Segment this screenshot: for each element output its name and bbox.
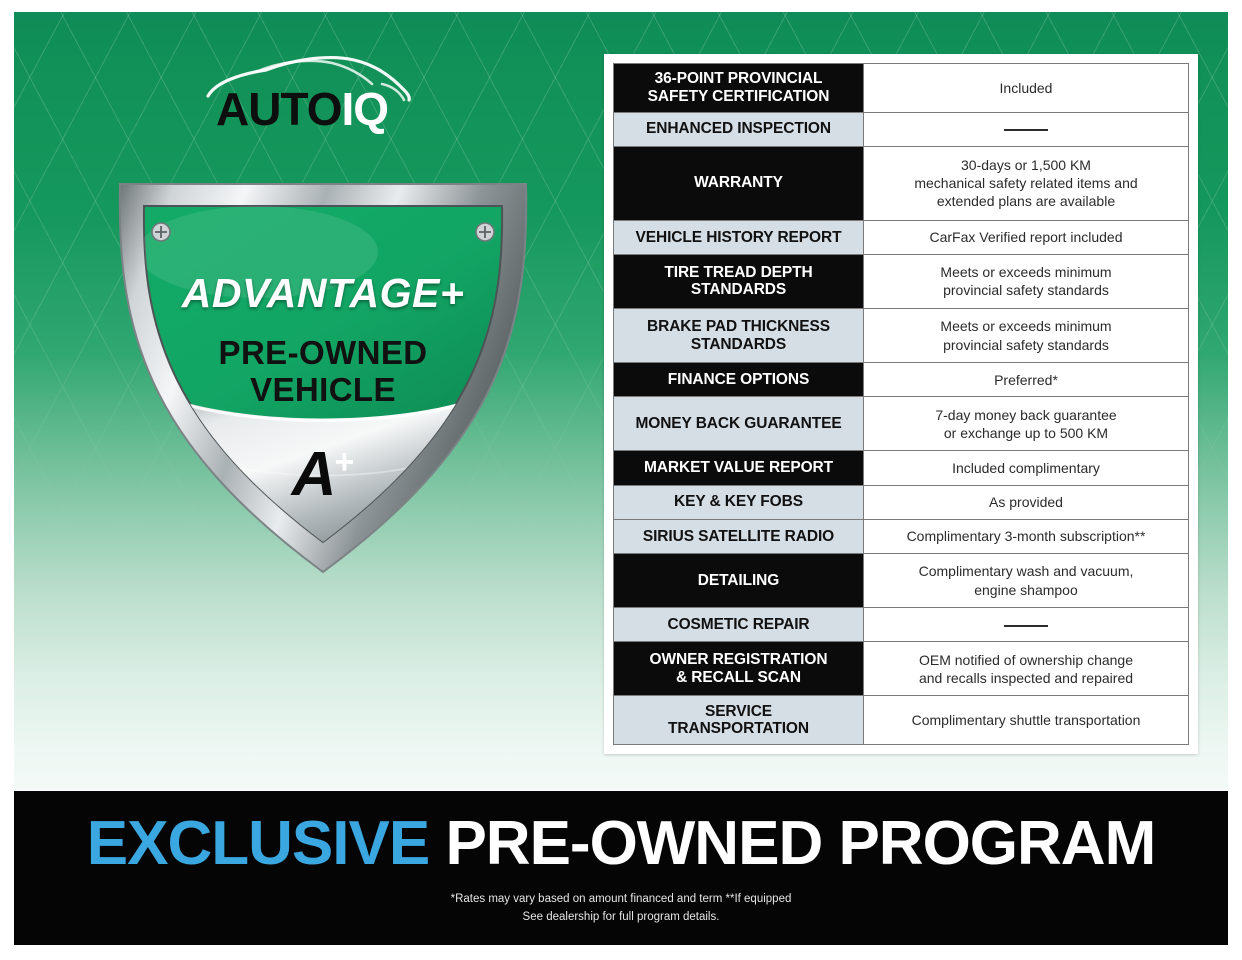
feature-value-cell: Preferred* (864, 363, 1189, 397)
disclaimer: *Rates may vary based on amount financed… (14, 891, 1228, 927)
headline-accent: EXCLUSIVE (87, 809, 429, 878)
logo-iq-text: IQ (342, 83, 389, 135)
autoiq-wordmark: AUTOIQ (216, 86, 416, 132)
feature-value-cell: Complimentary shuttle transportation (864, 696, 1189, 745)
autoiq-logo: AUTOIQ (196, 48, 418, 140)
feature-value-cell: Included complimentary (864, 451, 1189, 485)
feature-label-cell: SIRIUS SATELLITE RADIO (614, 519, 864, 553)
table-row: KEY & KEY FOBSAs provided (614, 485, 1189, 519)
feature-label-cell: SERVICETRANSPORTATION (614, 696, 864, 745)
em-dash-marker (1004, 129, 1048, 131)
table-row: ENHANCED INSPECTION (614, 112, 1189, 146)
feature-value-cell: Complimentary 3-month subscription** (864, 519, 1189, 553)
feature-label-cell: TIRE TREAD DEPTHSTANDARDS (614, 254, 864, 308)
table-row: TIRE TREAD DEPTHSTANDARDSMeets or exceed… (614, 254, 1189, 308)
table-row: 36-POINT PROVINCIALSAFETY CERTIFICATIONI… (614, 64, 1189, 113)
feature-label-cell: FINANCE OPTIONS (614, 363, 864, 397)
logo-auto-text: AUTO (216, 83, 342, 135)
feature-value-cell: OEM notified of ownership changeand reca… (864, 642, 1189, 696)
feature-value-cell: Meets or exceeds minimumprovincial safet… (864, 254, 1189, 308)
feature-value-cell: Meets or exceeds minimumprovincial safet… (864, 309, 1189, 363)
features-table-frame: 36-POINT PROVINCIALSAFETY CERTIFICATIONI… (604, 54, 1198, 754)
table-row: SIRIUS SATELLITE RADIOComplimentary 3-mo… (614, 519, 1189, 553)
feature-label-cell: BRAKE PAD THICKNESSSTANDARDS (614, 309, 864, 363)
feature-value-cell: As provided (864, 485, 1189, 519)
feature-value-cell: CarFax Verified report included (864, 220, 1189, 254)
table-row: COSMETIC REPAIR (614, 608, 1189, 642)
feature-value-cell: 30-days or 1,500 KMmechanical safety rel… (864, 146, 1189, 220)
feature-label-cell: VEHICLE HISTORY REPORT (614, 220, 864, 254)
feature-value-cell: 7-day money back guaranteeor exchange up… (864, 397, 1189, 451)
feature-label-cell: OWNER REGISTRATION& RECALL SCAN (614, 642, 864, 696)
features-table: 36-POINT PROVINCIALSAFETY CERTIFICATIONI… (613, 63, 1189, 745)
feature-value-cell (864, 608, 1189, 642)
feature-value-cell: Complimentary wash and vacuum,engine sha… (864, 553, 1189, 607)
em-dash-marker (1004, 625, 1048, 627)
feature-label-cell: 36-POINT PROVINCIALSAFETY CERTIFICATION (614, 64, 864, 113)
table-row: VEHICLE HISTORY REPORTCarFax Verified re… (614, 220, 1189, 254)
advantage-plus-shield-badge: ADVANTAGE+ PRE-OWNED VEHICLE A+ (108, 172, 538, 592)
disclaimer-line-2: See dealership for full program details. (14, 909, 1228, 927)
bottom-banner: EXCLUSIVE PRE-OWNED PROGRAM *Rates may v… (14, 791, 1228, 945)
table-row: MARKET VALUE REPORTIncluded complimentar… (614, 451, 1189, 485)
feature-value-cell: Included (864, 64, 1189, 113)
feature-label-cell: WARRANTY (614, 146, 864, 220)
feature-label-cell: MONEY BACK GUARANTEE (614, 397, 864, 451)
table-row: MONEY BACK GUARANTEE7-day money back gua… (614, 397, 1189, 451)
banner-headline: EXCLUSIVE PRE-OWNED PROGRAM (14, 813, 1228, 875)
feature-label-cell: ENHANCED INSPECTION (614, 112, 864, 146)
table-row: DETAILINGComplimentary wash and vacuum,e… (614, 553, 1189, 607)
table-row: FINANCE OPTIONSPreferred* (614, 363, 1189, 397)
table-row: SERVICETRANSPORTATIONComplimentary shutt… (614, 696, 1189, 745)
table-row: WARRANTY30-days or 1,500 KMmechanical sa… (614, 146, 1189, 220)
table-row: BRAKE PAD THICKNESSSTANDARDSMeets or exc… (614, 309, 1189, 363)
headline-rest (429, 809, 445, 878)
table-row: OWNER REGISTRATION& RECALL SCANOEM notif… (614, 642, 1189, 696)
shield-graphic-icon (108, 172, 538, 592)
feature-label-cell: MARKET VALUE REPORT (614, 451, 864, 485)
headline-rest-text: PRE-OWNED PROGRAM (445, 809, 1155, 878)
feature-label-cell: COSMETIC REPAIR (614, 608, 864, 642)
poster-root: AUTOIQ (0, 0, 1242, 960)
disclaimer-line-1: *Rates may vary based on amount financed… (14, 891, 1228, 909)
screw-icon (152, 223, 170, 241)
screw-icon (476, 223, 494, 241)
feature-label-cell: DETAILING (614, 553, 864, 607)
feature-label-cell: KEY & KEY FOBS (614, 485, 864, 519)
feature-value-cell (864, 112, 1189, 146)
